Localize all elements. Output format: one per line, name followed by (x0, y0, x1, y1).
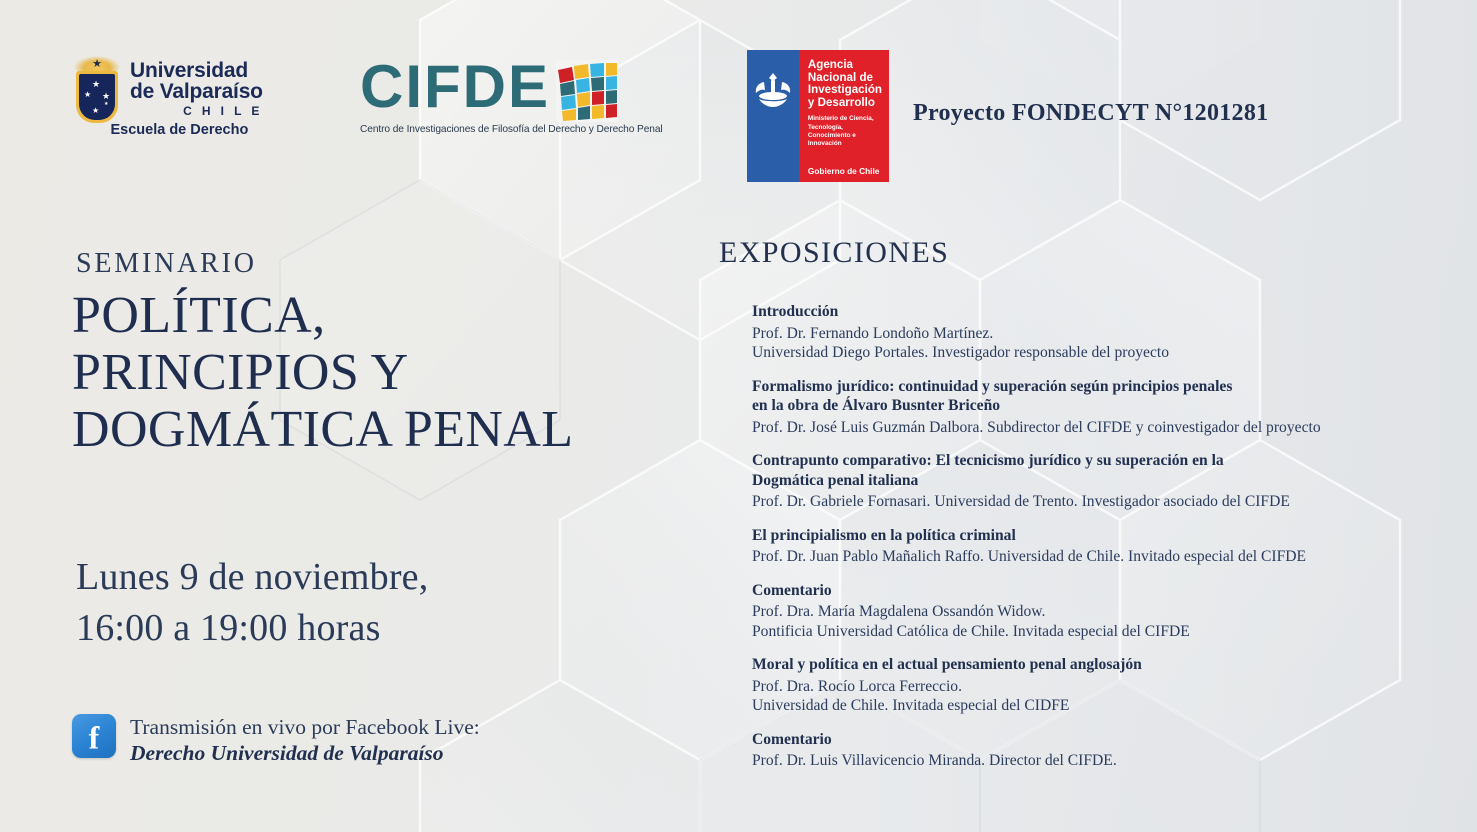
anid-red-panel: Agencia Nacional de Investigación y Desa… (799, 50, 889, 182)
speaker-line: Pontificia Universidad Católica de Chile… (752, 622, 1452, 642)
title-line-2: PRINCIPIOS Y (72, 344, 573, 401)
program-item: Introducción Prof. Dr. Fernando Londoño … (752, 302, 1452, 363)
program-item-speaker: Prof. Dr. Fernando Londoño Martínez. Uni… (752, 324, 1452, 363)
program-item-speaker: Prof. Dr. José Luis Guzmán Dalbora. Subd… (752, 418, 1452, 438)
anid-title: Agencia Nacional de Investigación y Desa… (808, 59, 882, 109)
title-line: en la obra de Álvaro Busnter Briceño (752, 396, 1452, 416)
facebook-live-text: Transmisión en vivo por Facebook Live: D… (130, 715, 480, 767)
speaker-line: Prof. Dr. Luis Villavicencio Miranda. Di… (752, 751, 1452, 771)
program-item-speaker: Prof. Dr. Luis Villavicencio Miranda. Di… (752, 751, 1452, 771)
uv-shield-field: ★ ★ ★ ★ ★ (79, 74, 115, 120)
stream-line-2: Derecho Universidad de Valparaíso (130, 740, 480, 767)
anid-logo: Agencia Nacional de Investigación y Desa… (747, 50, 889, 182)
uv-wing-star-icon: ★ (92, 59, 102, 70)
program-item: Comentario Prof. Dra. María Magdalena Os… (752, 581, 1452, 642)
uv-star-1: ★ (92, 80, 100, 89)
anid-title-line-4: y Desarrollo (808, 97, 882, 110)
uv-line-4: Escuela de Derecho (96, 122, 263, 138)
program-item-speaker: Prof. Dr. Gabriele Fornasari. Universida… (752, 492, 1452, 512)
universidad-de-valparaiso-logo: ★ ★ ★ ★ ★ ★ Universidad de Valparaíso C … (74, 56, 263, 138)
datetime-line-2: 16:00 a 19:00 horas (76, 603, 428, 654)
logo-row: ★ ★ ★ ★ ★ ★ Universidad de Valparaíso C … (0, 0, 1477, 200)
facebook-live-block[interactable]: f Transmisión en vivo por Facebook Live:… (72, 714, 480, 767)
speaker-line: Prof. Dr. Juan Pablo Mañalich Raffo. Uni… (752, 547, 1452, 567)
chile-coat-of-arms-icon (752, 70, 794, 110)
speaker-line: Prof. Dr. Gabriele Fornasari. Universida… (752, 492, 1452, 512)
event-datetime: Lunes 9 de noviembre, 16:00 a 19:00 hora… (76, 552, 428, 654)
uv-line-2: de Valparaíso (130, 81, 263, 102)
cifde-wordmark: CIFDE (360, 58, 550, 116)
program-item-speaker: Prof. Dra. Rocío Lorca Ferreccio. Univer… (752, 677, 1452, 716)
program-item: Contrapunto comparativo: El tecnicismo j… (752, 451, 1452, 512)
cifde-logo: CIFDE (360, 58, 663, 135)
uv-star-2: ★ (84, 91, 91, 99)
title-line-1: POLÍTICA, (72, 287, 573, 344)
program-item: Moral y política en el actual pensamient… (752, 655, 1452, 716)
program-item-title: Comentario (752, 581, 1452, 601)
speaker-line: Prof. Dr. José Luis Guzmán Dalbora. Subd… (752, 418, 1452, 438)
uv-line-3: C H I L E (130, 104, 263, 118)
uv-star-5: ★ (92, 107, 99, 115)
program-item: Comentario Prof. Dr. Luis Villavicencio … (752, 730, 1452, 771)
uv-wordmark: Universidad de Valparaíso C H I L E Escu… (130, 56, 263, 138)
uv-star-4: ★ (104, 102, 108, 107)
cifde-subtitle: Centro de Investigaciones de Filosofía d… (360, 124, 663, 135)
program-list: Introducción Prof. Dr. Fernando Londoño … (752, 302, 1452, 785)
program-item: Formalismo jurídico: continuidad y super… (752, 377, 1452, 438)
speaker-line: Universidad Diego Portales. Investigador… (752, 343, 1452, 363)
uv-shield-icon: ★ ★ ★ ★ ★ ★ (74, 56, 120, 124)
title-line-3: DOGMÁTICA PENAL (72, 401, 573, 458)
uv-shield-body: ★ ★ ★ ★ ★ (76, 71, 118, 123)
title-line: Dogmática penal italiana (752, 471, 1452, 491)
program-item-title: Moral y política en el actual pensamient… (752, 655, 1452, 675)
speaker-line: Prof. Dr. Fernando Londoño Martínez. (752, 324, 1452, 344)
anid-title-line-1: Agencia (808, 59, 882, 72)
title-line: Formalismo jurídico: continuidad y super… (752, 377, 1452, 397)
program-item-title: Formalismo jurídico: continuidad y super… (752, 377, 1452, 416)
seminar-poster: ★ ★ ★ ★ ★ ★ Universidad de Valparaíso C … (0, 0, 1477, 832)
program-item-title: Introducción (752, 302, 1452, 322)
speaker-line: Prof. Dra. Rocío Lorca Ferreccio. (752, 677, 1452, 697)
datetime-line-1: Lunes 9 de noviembre, (76, 552, 428, 603)
anid-gobierno: Gobierno de Chile (808, 166, 879, 176)
speaker-line: Prof. Dra. María Magdalena Ossandón Wido… (752, 602, 1452, 622)
program-item-title: Contrapunto comparativo: El tecnicismo j… (752, 451, 1452, 490)
cifde-mosaic-icon (556, 60, 618, 122)
anid-title-line-3: Investigación (808, 84, 882, 97)
anid-ministry: Ministerio de Ciencia, Tecnología, Conoc… (808, 115, 882, 148)
facebook-icon[interactable]: f (72, 714, 116, 758)
project-label: Proyecto FONDECYT N°1201281 (913, 100, 1268, 127)
program-item: El principialismo en la política crimina… (752, 526, 1452, 567)
speaker-line: Universidad de Chile. Invitada especial … (752, 696, 1452, 716)
title-line: Contrapunto comparativo: El tecnicismo j… (752, 451, 1452, 471)
stream-line-1: Transmisión en vivo por Facebook Live: (130, 715, 480, 740)
program-heading: EXPOSICIONES (719, 236, 949, 270)
page-title: POLÍTICA, PRINCIPIOS Y DOGMÁTICA PENAL (72, 287, 573, 458)
kicker-seminario: SEMINARIO (76, 248, 257, 280)
anid-blue-panel (747, 50, 799, 182)
program-item-title: El principialismo en la política crimina… (752, 526, 1452, 546)
uv-line-1: Universidad (130, 60, 263, 81)
program-item-speaker: Prof. Dr. Juan Pablo Mañalich Raffo. Uni… (752, 547, 1452, 567)
program-item-title: Comentario (752, 730, 1452, 750)
program-item-speaker: Prof. Dra. María Magdalena Ossandón Wido… (752, 602, 1452, 641)
uv-star-3: ★ (102, 92, 110, 101)
